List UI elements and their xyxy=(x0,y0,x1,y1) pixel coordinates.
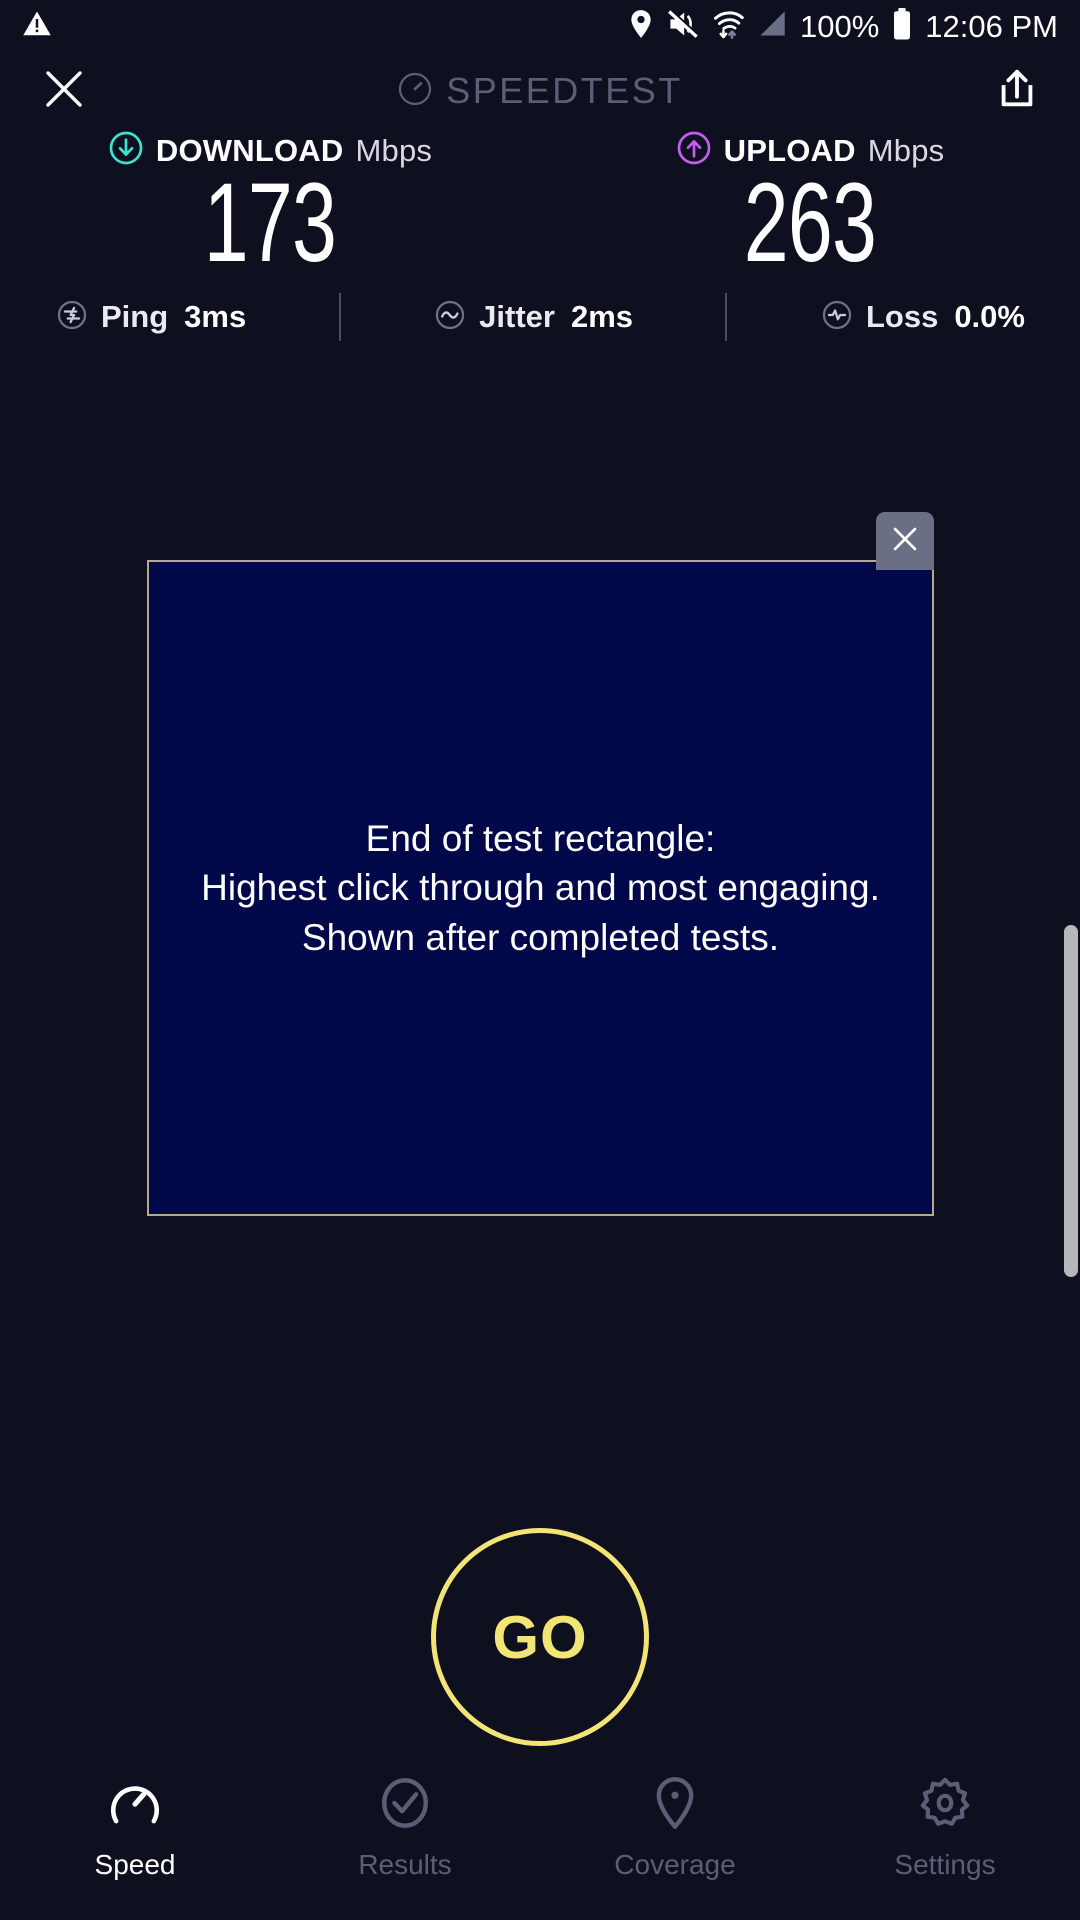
loss-icon xyxy=(820,298,854,337)
ping-icon xyxy=(55,298,89,337)
clock-label: 12:06 PM xyxy=(925,11,1058,42)
app-header: SPEEDTEST xyxy=(0,52,1080,130)
loss-label: Loss xyxy=(866,299,938,335)
results-panel: DOWNLOAD Mbps 173 UPLOAD Mbps 263 xyxy=(0,130,1080,341)
arrow-up-circle-icon xyxy=(676,130,712,171)
upload-result: UPLOAD Mbps 263 xyxy=(540,130,1080,279)
brand-title: SPEEDTEST xyxy=(446,70,683,112)
download-unit: Mbps xyxy=(355,133,432,169)
volume-mute-icon xyxy=(667,9,699,44)
jitter-metric: Jitter 2ms xyxy=(433,298,633,337)
jitter-icon xyxy=(433,298,467,337)
close-icon xyxy=(888,522,922,561)
status-bar-left xyxy=(22,9,52,44)
battery-full-icon xyxy=(892,8,912,45)
ad-line-3: Shown after completed tests. xyxy=(201,913,880,962)
metric-divider-2 xyxy=(725,293,727,341)
gear-icon xyxy=(916,1774,974,1837)
download-result: DOWNLOAD Mbps 173 xyxy=(0,130,540,279)
loss-metric: Loss 0.0% xyxy=(820,298,1025,337)
share-button[interactable] xyxy=(994,66,1040,117)
ad-close-button[interactable] xyxy=(876,512,934,570)
cellular-signal-icon xyxy=(757,10,787,43)
speedometer-icon xyxy=(106,1774,164,1837)
jitter-value: 2ms xyxy=(571,299,633,335)
download-value: 173 xyxy=(204,167,336,279)
ad-line-2: Highest click through and most engaging. xyxy=(201,863,880,912)
bottom-navigation: Speed Results Coverage Settings xyxy=(0,1760,1080,1920)
arrow-down-circle-icon xyxy=(108,130,144,171)
upload-value: 263 xyxy=(744,167,876,279)
ad-line-1: End of test rectangle: xyxy=(201,814,880,863)
ad-creative[interactable]: End of test rectangle: Highest click thr… xyxy=(147,560,934,1216)
wifi-transfer-icon xyxy=(712,8,744,45)
status-bar-right: 100% 12:06 PM xyxy=(628,8,1058,45)
scrollbar-thumb[interactable] xyxy=(1064,925,1078,1277)
nav-label-speed: Speed xyxy=(95,1849,176,1881)
metrics-row: Ping 3ms Jitter 2ms xyxy=(0,293,1080,341)
ad-text: End of test rectangle: Highest click thr… xyxy=(201,814,880,962)
go-button[interactable]: GO xyxy=(431,1528,649,1746)
nav-item-results[interactable]: Results xyxy=(270,1774,540,1881)
advertisement[interactable]: End of test rectangle: Highest click thr… xyxy=(147,560,934,1216)
status-bar: 100% 12:06 PM xyxy=(0,0,1080,52)
metric-divider-1 xyxy=(339,293,341,341)
nav-item-settings[interactable]: Settings xyxy=(810,1774,1080,1881)
warning-triangle-icon xyxy=(22,9,52,44)
brand: SPEEDTEST xyxy=(0,52,1080,130)
ping-label: Ping xyxy=(101,299,168,335)
check-circle-icon xyxy=(376,1774,434,1837)
battery-percent-label: 100% xyxy=(800,11,879,42)
nav-item-speed[interactable]: Speed xyxy=(0,1774,270,1881)
loss-value: 0.0% xyxy=(954,299,1025,335)
ping-value: 3ms xyxy=(184,299,246,335)
share-icon xyxy=(994,66,1040,117)
jitter-label: Jitter xyxy=(479,299,555,335)
location-pin-icon xyxy=(646,1774,704,1837)
nav-label-settings: Settings xyxy=(894,1849,995,1881)
nav-item-coverage[interactable]: Coverage xyxy=(540,1774,810,1881)
location-pin-icon xyxy=(628,9,654,44)
speedometer-icon xyxy=(397,71,433,112)
go-button-label: GO xyxy=(492,1603,587,1672)
upload-unit: Mbps xyxy=(868,133,945,169)
ping-metric: Ping 3ms xyxy=(55,298,246,337)
close-icon xyxy=(40,65,88,118)
nav-label-coverage: Coverage xyxy=(614,1849,735,1881)
nav-label-results: Results xyxy=(358,1849,451,1881)
close-button[interactable] xyxy=(40,65,88,118)
speed-row: DOWNLOAD Mbps 173 UPLOAD Mbps 263 xyxy=(0,130,1080,279)
